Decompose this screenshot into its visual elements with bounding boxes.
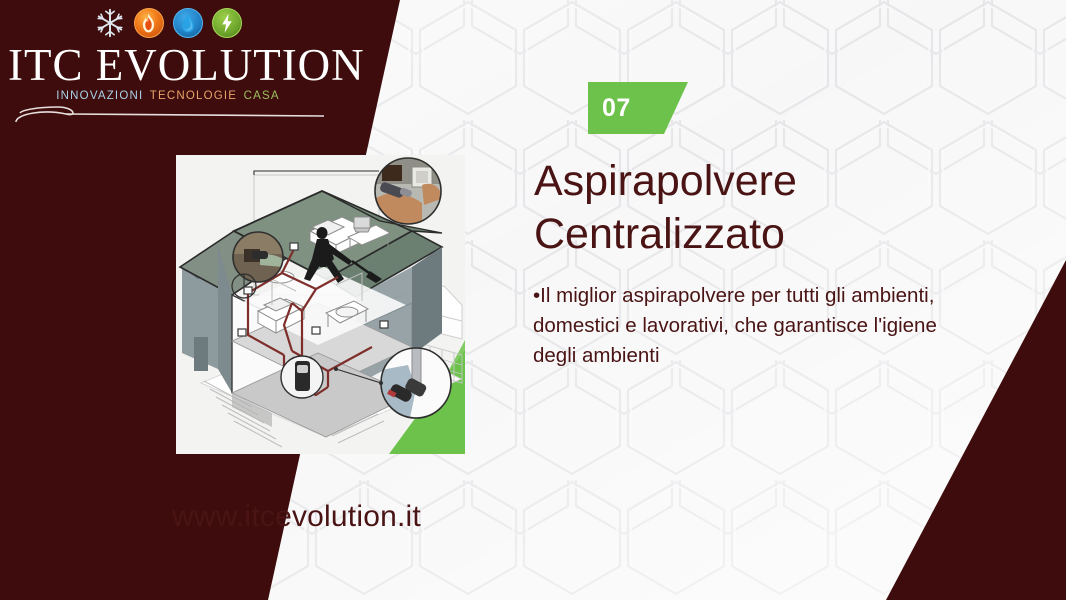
body-paragraph: •Il miglior aspirapolvere per tutti gli … xyxy=(533,281,953,371)
flame-icon xyxy=(134,8,164,38)
website-url[interactable]: www.itcevolution.it xyxy=(172,500,421,534)
snowflake-icon xyxy=(95,8,125,38)
logo-title: ITC EVOLUTION xyxy=(8,41,328,89)
page-title-line-2: Centralizzato xyxy=(534,208,964,261)
page-title: Aspirapolvere Centralizzato xyxy=(534,155,964,261)
page-title-line-1: Aspirapolvere xyxy=(534,155,964,208)
logo-icon-row xyxy=(8,6,328,40)
brand-logo: ITC EVOLUTION INNOVAZIONI TECNOLOGIE CAS… xyxy=(8,6,328,126)
product-illustration xyxy=(176,155,465,454)
lightning-bolt-icon xyxy=(212,8,242,38)
water-drop-icon xyxy=(173,8,203,38)
logo-swoosh-underline xyxy=(8,100,328,126)
slide-number-text: 07 xyxy=(588,94,631,123)
slide-canvas: ITC EVOLUTION INNOVAZIONI TECNOLOGIE CAS… xyxy=(0,0,1066,600)
